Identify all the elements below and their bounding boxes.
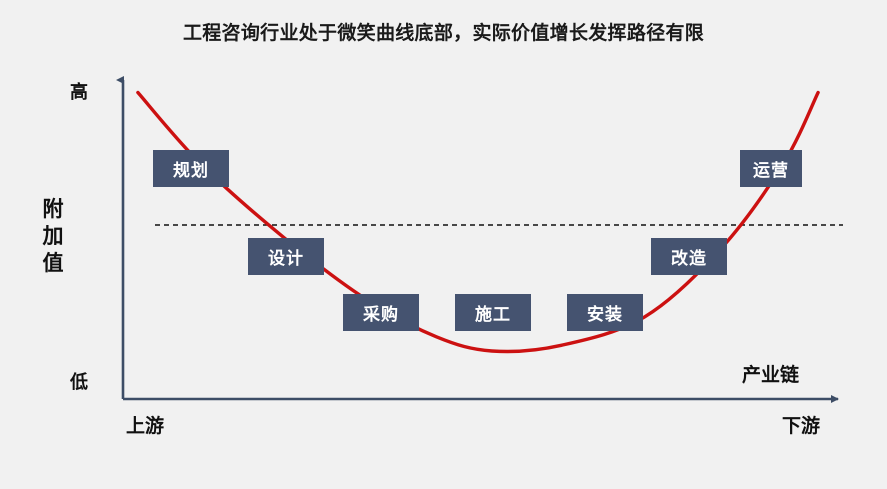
y-axis-title-char-2: 加 [36, 223, 70, 250]
stage-box-4[interactable]: 安装 [567, 294, 643, 331]
y-axis-label-high: 高 [70, 78, 88, 104]
y-axis-title-char-3: 值 [36, 250, 70, 277]
x-axis-label-downstream: 下游 [782, 411, 820, 438]
stage-box-2[interactable]: 采购 [343, 294, 419, 331]
smile-curve-chart: 工程咨询行业处于微笑曲线底部，实际价值增长发挥路径有限 附 加 值 高 低 产业… [0, 0, 887, 489]
stage-box-label: 施工 [475, 300, 511, 325]
stage-box-label: 采购 [363, 300, 399, 325]
stage-box-1[interactable]: 设计 [248, 238, 324, 275]
y-axis-title-char-1: 附 [36, 196, 70, 223]
stage-box-6[interactable]: 运营 [740, 150, 802, 187]
y-axis-title: 附 加 值 [36, 196, 70, 277]
stage-box-label: 运营 [753, 156, 789, 181]
stage-box-label: 安装 [587, 300, 623, 325]
y-axis-label-low: 低 [70, 368, 88, 394]
stage-box-label: 规划 [173, 156, 209, 181]
stage-box-label: 改造 [671, 244, 707, 269]
stage-box-0[interactable]: 规划 [153, 150, 229, 187]
stage-box-3[interactable]: 施工 [455, 294, 531, 331]
x-axis-label-upstream: 上游 [126, 411, 164, 438]
x-axis-title: 产业链 [742, 360, 799, 387]
stage-box-5[interactable]: 改造 [651, 238, 727, 275]
stage-box-label: 设计 [268, 244, 304, 269]
